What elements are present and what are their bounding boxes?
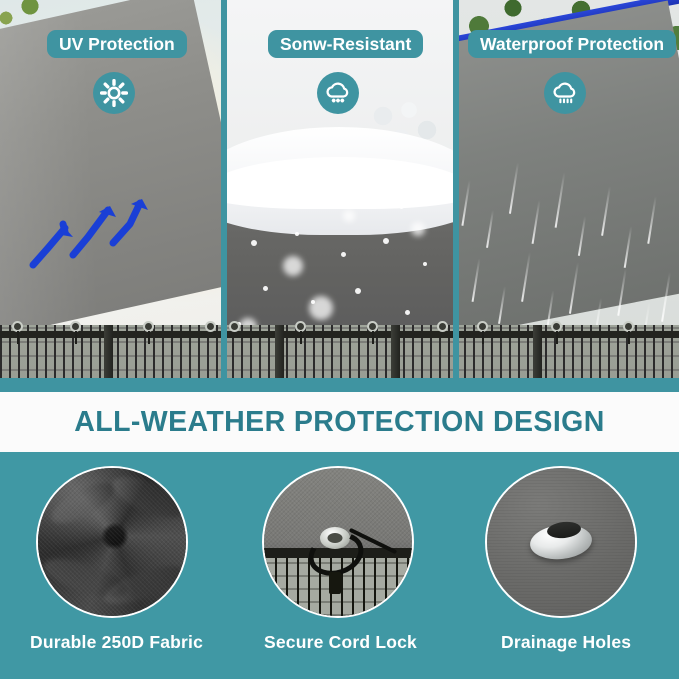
feature-label: Durable 250D Fabric xyxy=(0,632,226,653)
drainage-hole-grommet-photo xyxy=(485,466,637,618)
feature-cord-lock: Secure Cord Lock xyxy=(226,452,452,679)
cage-post xyxy=(391,325,400,385)
cage-top-rail xyxy=(223,331,455,338)
panel-divider-2 xyxy=(453,0,459,385)
headline-band: ALL-WEATHER PROTECTION DESIGN xyxy=(0,392,679,452)
cage-post xyxy=(533,325,542,385)
tarp-hook xyxy=(372,331,374,344)
panel-divider-1 xyxy=(221,0,227,385)
feature-label: Drainage Holes xyxy=(453,632,679,653)
fabric-swatch-photo xyxy=(36,466,188,618)
feature-durable-fabric: Durable 250D Fabric xyxy=(0,452,226,679)
infographic-page: UV Protection Sonw-Resistant Waterproof … xyxy=(0,0,679,679)
badge-snow-resistant: Sonw-Resistant xyxy=(268,30,423,58)
kennel-cage-snow xyxy=(223,325,455,385)
badge-uv-protection: UV Protection xyxy=(47,30,187,58)
tarp-grommet xyxy=(229,321,240,332)
tarp-grommet xyxy=(437,321,448,332)
features-section: Durable 250D Fabric Secure Cord Lock xyxy=(0,452,679,679)
feature-drainage-holes: Drainage Holes xyxy=(453,452,679,679)
tarp-hook xyxy=(482,331,484,344)
cage-post xyxy=(275,325,284,385)
tarp-hook xyxy=(556,331,558,344)
tarp-hook xyxy=(628,331,630,344)
badge-waterproof-protection: Waterproof Protection xyxy=(468,30,676,58)
snow-accumulation-top xyxy=(223,157,455,209)
kennel-cage-rain xyxy=(455,325,679,385)
tarp-hook xyxy=(300,331,302,344)
sun-icon xyxy=(93,72,135,114)
cord-clip xyxy=(329,572,341,594)
cage-top-rail xyxy=(455,331,679,338)
feature-label: Secure Cord Lock xyxy=(226,632,452,653)
snow-cloud-icon xyxy=(317,72,359,114)
rain-cloud-icon xyxy=(544,72,586,114)
page-title: ALL-WEATHER PROTECTION DESIGN xyxy=(74,406,604,439)
cord-lock-grommet-photo xyxy=(262,466,414,618)
panels-bottom-teal-bar xyxy=(0,378,679,392)
